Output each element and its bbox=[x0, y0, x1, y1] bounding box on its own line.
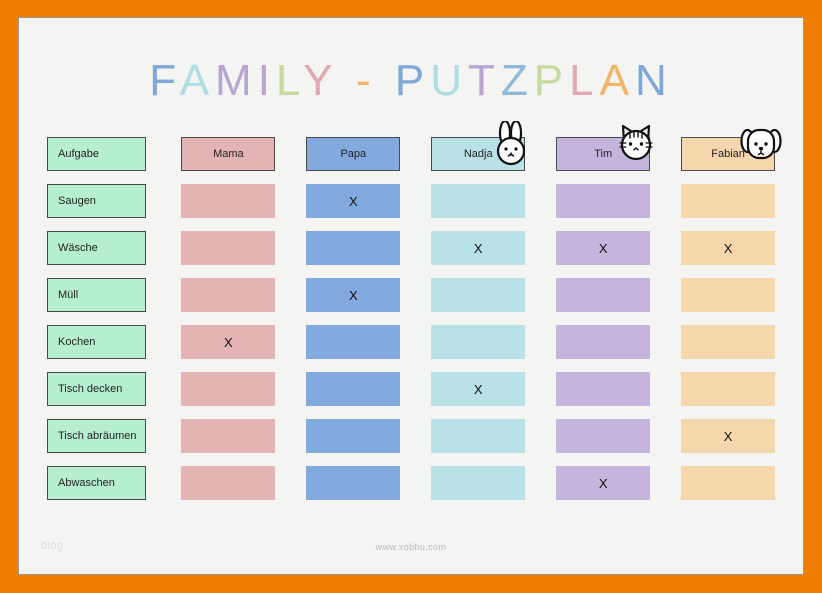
page-title: FAMILY - PUTZPLAN bbox=[19, 56, 803, 106]
assignment-cell-nadja bbox=[425, 460, 531, 507]
assignment-cell-mama bbox=[175, 413, 281, 460]
checkbox-cell-papa[interactable]: X bbox=[306, 278, 400, 312]
assignment-cell-papa: X bbox=[300, 272, 406, 319]
column-gap bbox=[406, 413, 425, 460]
task-cell: Kochen bbox=[41, 319, 152, 366]
column-gap bbox=[531, 131, 550, 178]
column-header-nadja[interactable]: Nadja bbox=[431, 137, 525, 171]
checkbox-cell-fabian[interactable] bbox=[681, 372, 775, 406]
assignment-cell-papa bbox=[300, 225, 406, 272]
task-cell: Wäsche bbox=[41, 225, 152, 272]
column-gap bbox=[152, 319, 175, 366]
assignment-mark: X bbox=[474, 382, 483, 397]
title-letter: I bbox=[258, 56, 276, 105]
column-gap bbox=[656, 413, 675, 460]
checkbox-cell-papa[interactable] bbox=[306, 231, 400, 265]
checkbox-cell-tim[interactable]: X bbox=[556, 466, 650, 500]
checkbox-cell-tim[interactable]: X bbox=[556, 231, 650, 265]
assignment-cell-fabian: X bbox=[675, 413, 781, 460]
checkbox-cell-tim[interactable] bbox=[556, 419, 650, 453]
assignment-cell-fabian bbox=[675, 460, 781, 507]
assignment-cell-papa bbox=[300, 413, 406, 460]
title-letter bbox=[338, 56, 356, 105]
assignment-mark: X bbox=[349, 288, 358, 303]
column-header-task[interactable]: Aufgabe bbox=[47, 137, 146, 171]
column-header-papa[interactable]: Papa bbox=[306, 137, 400, 171]
assignment-cell-nadja: X bbox=[425, 366, 531, 413]
checkbox-cell-fabian[interactable] bbox=[681, 278, 775, 312]
checkbox-cell-papa[interactable] bbox=[306, 419, 400, 453]
table-header-row: AufgabeMamaPapaNadjaTimFabian bbox=[41, 131, 781, 178]
column-gap bbox=[281, 366, 300, 413]
checkbox-cell-mama[interactable] bbox=[181, 466, 275, 500]
column-gap bbox=[656, 319, 675, 366]
table-row: SaugenX bbox=[41, 178, 781, 225]
column-gap bbox=[406, 131, 425, 178]
column-gap bbox=[656, 178, 675, 225]
column-gap bbox=[281, 131, 300, 178]
checkbox-cell-nadja[interactable]: X bbox=[431, 231, 525, 265]
assignment-cell-fabian bbox=[675, 272, 781, 319]
title-letter: P bbox=[395, 56, 430, 105]
checkbox-cell-papa[interactable] bbox=[306, 325, 400, 359]
checkbox-cell-mama[interactable] bbox=[181, 184, 275, 218]
assignment-mark: X bbox=[724, 429, 733, 444]
header-cell-mama: Mama bbox=[175, 131, 281, 178]
column-gap bbox=[531, 413, 550, 460]
assignment-cell-mama bbox=[175, 366, 281, 413]
column-gap bbox=[406, 178, 425, 225]
checkbox-cell-tim[interactable] bbox=[556, 278, 650, 312]
title-letter: N bbox=[635, 56, 673, 105]
column-gap bbox=[152, 413, 175, 460]
assignment-mark: X bbox=[599, 476, 608, 491]
column-gap bbox=[656, 272, 675, 319]
title-letter: L bbox=[569, 56, 599, 105]
assignment-cell-nadja bbox=[425, 178, 531, 225]
header-cell-papa: Papa bbox=[300, 131, 406, 178]
checkbox-cell-nadja[interactable] bbox=[431, 325, 525, 359]
table-row: KochenX bbox=[41, 319, 781, 366]
assignment-cell-mama bbox=[175, 178, 281, 225]
column-gap bbox=[152, 272, 175, 319]
checkbox-cell-tim[interactable] bbox=[556, 325, 650, 359]
column-gap bbox=[281, 413, 300, 460]
column-header-mama[interactable]: Mama bbox=[181, 137, 275, 171]
header-cell-nadja: Nadja bbox=[425, 131, 531, 178]
column-gap bbox=[656, 460, 675, 507]
column-gap bbox=[281, 272, 300, 319]
task-label[interactable]: Wäsche bbox=[47, 231, 146, 265]
assignment-cell-tim: X bbox=[550, 460, 656, 507]
title-letter: A bbox=[180, 56, 215, 105]
task-cell: Saugen bbox=[41, 178, 152, 225]
title-letter: - bbox=[356, 56, 377, 105]
column-gap bbox=[531, 366, 550, 413]
task-label[interactable]: Tisch abräumen bbox=[47, 419, 146, 453]
checkbox-cell-fabian[interactable] bbox=[681, 325, 775, 359]
checkbox-cell-papa[interactable]: X bbox=[306, 184, 400, 218]
title-letter: T bbox=[468, 56, 501, 105]
task-label[interactable]: Saugen bbox=[47, 184, 146, 218]
checkbox-cell-tim[interactable] bbox=[556, 372, 650, 406]
column-gap bbox=[656, 366, 675, 413]
assignment-mark: X bbox=[349, 194, 358, 209]
assignment-cell-tim bbox=[550, 413, 656, 460]
assignment-mark: X bbox=[599, 241, 608, 256]
task-label[interactable]: Tisch decken bbox=[47, 372, 146, 406]
title-letter: L bbox=[276, 56, 303, 105]
table-row: Tisch deckenX bbox=[41, 366, 781, 413]
table-row: AbwaschenX bbox=[41, 460, 781, 507]
table-row: Tisch abräumenX bbox=[41, 413, 781, 460]
column-header-tim[interactable]: Tim bbox=[556, 137, 650, 171]
title-letter: F bbox=[149, 56, 179, 105]
header-cell-tim: Tim bbox=[550, 131, 656, 178]
assignment-mark: X bbox=[724, 241, 733, 256]
column-gap bbox=[406, 319, 425, 366]
assignment-cell-nadja: X bbox=[425, 225, 531, 272]
column-gap bbox=[406, 272, 425, 319]
assignment-cell-mama bbox=[175, 225, 281, 272]
assignment-cell-papa: X bbox=[300, 178, 406, 225]
checkbox-cell-nadja[interactable] bbox=[431, 184, 525, 218]
task-cell: Abwaschen bbox=[41, 460, 152, 507]
checkbox-cell-fabian[interactable] bbox=[681, 184, 775, 218]
title-letter: U bbox=[430, 56, 468, 105]
column-gap bbox=[152, 366, 175, 413]
checkbox-cell-papa[interactable] bbox=[306, 466, 400, 500]
assignment-cell-fabian bbox=[675, 178, 781, 225]
assignment-cell-tim bbox=[550, 366, 656, 413]
checkbox-cell-nadja[interactable] bbox=[431, 419, 525, 453]
title-letter: Z bbox=[501, 56, 534, 105]
checkbox-cell-mama[interactable]: X bbox=[181, 325, 275, 359]
column-gap bbox=[656, 131, 675, 178]
column-gap bbox=[656, 225, 675, 272]
assignment-mark: X bbox=[474, 241, 483, 256]
assignment-cell-tim bbox=[550, 178, 656, 225]
checkbox-cell-mama[interactable] bbox=[181, 278, 275, 312]
task-label[interactable]: Abwaschen bbox=[47, 466, 146, 500]
assignment-cell-fabian: X bbox=[675, 225, 781, 272]
chore-chart-page: FAMILY - PUTZPLAN AufgabeMamaPapaNadjaTi… bbox=[18, 17, 804, 575]
checkbox-cell-fabian[interactable]: X bbox=[681, 419, 775, 453]
task-cell: Müll bbox=[41, 272, 152, 319]
title-letter: P bbox=[534, 56, 569, 105]
assignment-cell-tim bbox=[550, 319, 656, 366]
header-cell-task: Aufgabe bbox=[41, 131, 152, 178]
column-gap bbox=[531, 178, 550, 225]
table-row: WäscheXXX bbox=[41, 225, 781, 272]
column-header-fabian[interactable]: Fabian bbox=[681, 137, 775, 171]
assignment-cell-nadja bbox=[425, 319, 531, 366]
title-letter: M bbox=[215, 56, 258, 105]
column-gap bbox=[531, 272, 550, 319]
checkbox-cell-nadja[interactable] bbox=[431, 278, 525, 312]
column-gap bbox=[406, 460, 425, 507]
checkbox-cell-papa[interactable] bbox=[306, 372, 400, 406]
checkbox-cell-mama[interactable] bbox=[181, 419, 275, 453]
column-gap bbox=[152, 225, 175, 272]
assignment-cell-fabian bbox=[675, 319, 781, 366]
checkbox-cell-fabian[interactable] bbox=[681, 466, 775, 500]
column-gap bbox=[152, 460, 175, 507]
checkbox-cell-tim[interactable] bbox=[556, 184, 650, 218]
assignment-cell-papa bbox=[300, 319, 406, 366]
column-gap bbox=[531, 225, 550, 272]
column-gap bbox=[152, 178, 175, 225]
assignment-cell-tim bbox=[550, 272, 656, 319]
checkbox-cell-mama[interactable] bbox=[181, 231, 275, 265]
table-row: MüllX bbox=[41, 272, 781, 319]
column-gap bbox=[531, 319, 550, 366]
column-gap bbox=[281, 225, 300, 272]
header-cell-fabian: Fabian bbox=[675, 131, 781, 178]
column-gap bbox=[152, 131, 175, 178]
column-gap bbox=[406, 225, 425, 272]
assignment-cell-mama bbox=[175, 272, 281, 319]
task-label[interactable]: Müll bbox=[47, 278, 146, 312]
column-gap bbox=[406, 366, 425, 413]
column-gap bbox=[281, 319, 300, 366]
title-letter: Y bbox=[303, 56, 338, 105]
checkbox-cell-mama[interactable] bbox=[181, 372, 275, 406]
assignment-cell-papa bbox=[300, 366, 406, 413]
assignment-cell-mama bbox=[175, 460, 281, 507]
checkbox-cell-nadja[interactable] bbox=[431, 466, 525, 500]
checkbox-cell-nadja[interactable]: X bbox=[431, 372, 525, 406]
title-letter: A bbox=[600, 56, 635, 105]
assignment-cell-nadja bbox=[425, 413, 531, 460]
orange-poster-frame: FAMILY - PUTZPLAN AufgabeMamaPapaNadjaTi… bbox=[0, 0, 822, 593]
footer-website-url: www.xobbu.com bbox=[19, 542, 803, 552]
chore-table: AufgabeMamaPapaNadjaTimFabianSaugenXWäsc… bbox=[41, 131, 781, 507]
assignment-cell-papa bbox=[300, 460, 406, 507]
assignment-cell-mama: X bbox=[175, 319, 281, 366]
title-letter bbox=[377, 56, 395, 105]
column-gap bbox=[531, 460, 550, 507]
task-cell: Tisch abräumen bbox=[41, 413, 152, 460]
assignment-cell-fabian bbox=[675, 366, 781, 413]
task-cell: Tisch decken bbox=[41, 366, 152, 413]
assignment-cell-nadja bbox=[425, 272, 531, 319]
assignment-cell-tim: X bbox=[550, 225, 656, 272]
column-gap bbox=[281, 460, 300, 507]
assignment-mark: X bbox=[224, 335, 233, 350]
task-label[interactable]: Kochen bbox=[47, 325, 146, 359]
checkbox-cell-fabian[interactable]: X bbox=[681, 231, 775, 265]
column-gap bbox=[281, 178, 300, 225]
